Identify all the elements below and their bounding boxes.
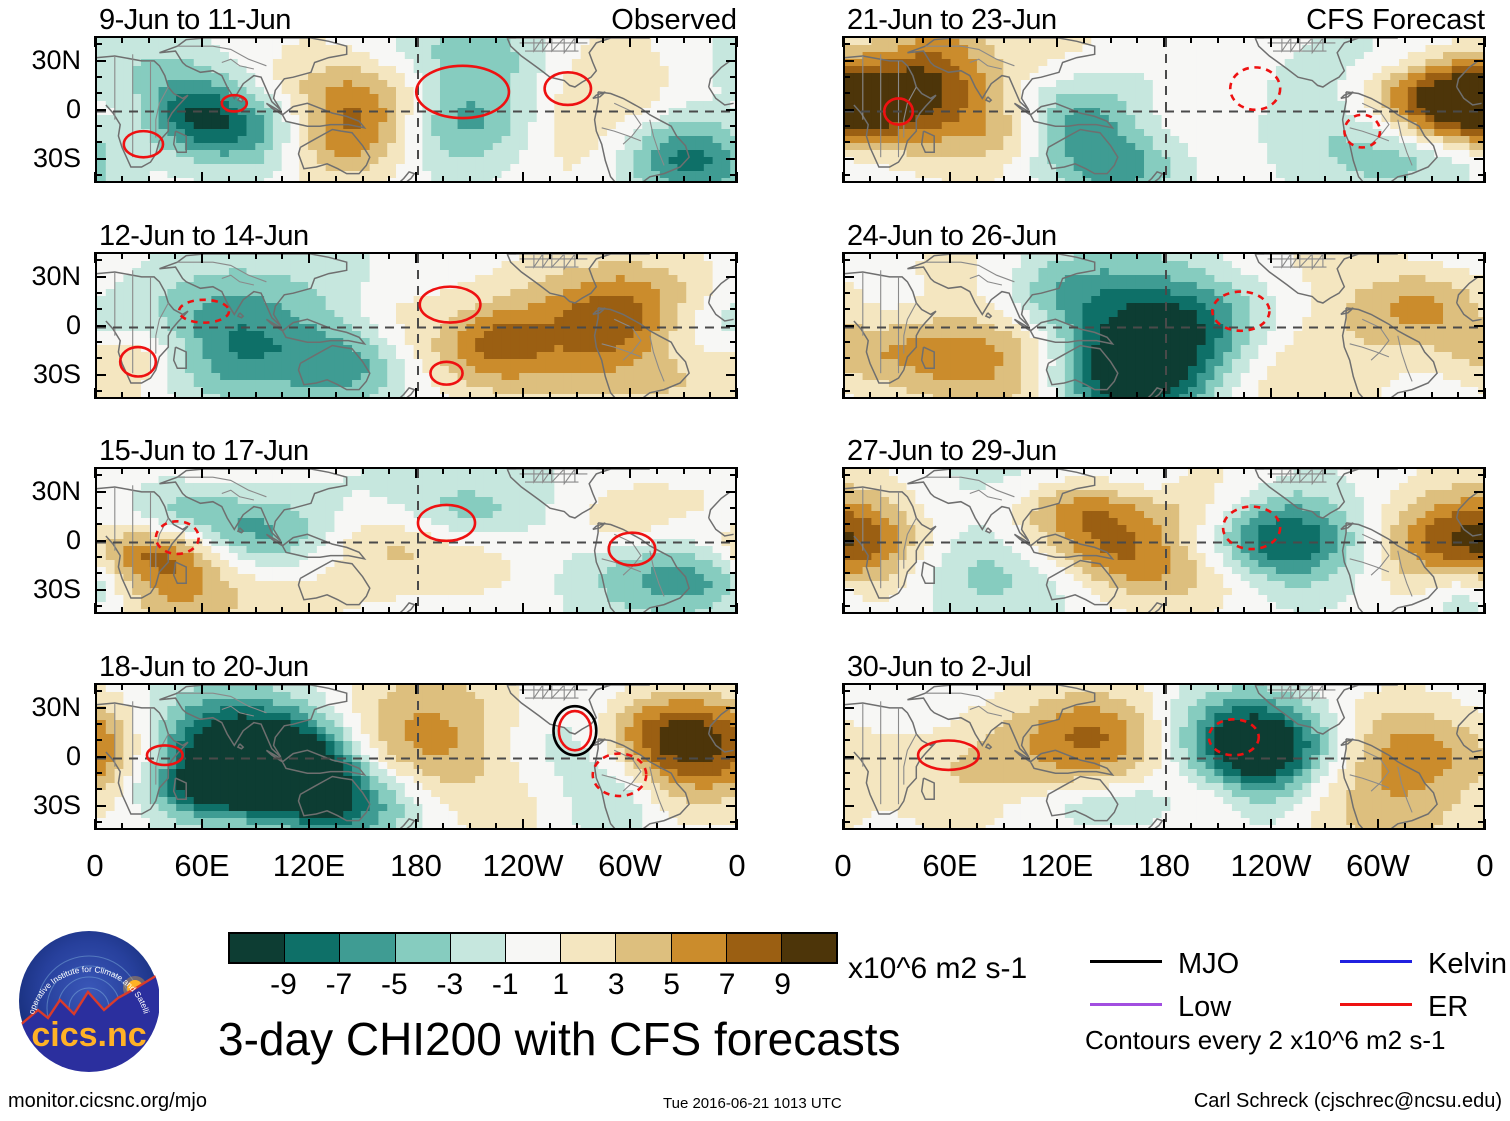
legend-line-mjo — [1090, 960, 1162, 963]
x-axis-tick — [335, 36, 337, 43]
legend-label: Low — [1178, 991, 1231, 1024]
y-axis-tick — [95, 60, 106, 62]
x-axis-tick-label: 120W — [478, 848, 568, 884]
x-axis-tick — [1003, 467, 1005, 474]
x-axis-tick — [1110, 823, 1112, 830]
x-axis-tick — [148, 392, 150, 399]
y-axis-tick — [843, 158, 854, 160]
y-axis-tick — [843, 474, 850, 476]
y-axis-tick — [730, 739, 737, 741]
x-axis-tick — [1163, 683, 1165, 694]
x-axis-tick — [1324, 823, 1326, 830]
x-axis-tick — [1457, 392, 1459, 399]
x-axis-tick — [94, 388, 96, 399]
x-axis-tick — [1457, 607, 1459, 614]
x-axis-tick — [1056, 603, 1058, 614]
x-axis-tick — [469, 607, 471, 614]
y-axis-tick — [1478, 572, 1485, 574]
y-axis-tick — [1474, 491, 1485, 493]
x-axis-tick — [442, 823, 444, 830]
x-axis-tick — [549, 607, 551, 614]
y-axis-tick — [95, 756, 106, 758]
x-axis-tick — [576, 683, 578, 690]
x-axis-tick — [1324, 607, 1326, 614]
x-axis-tick — [709, 683, 711, 690]
x-axis-tick — [1404, 392, 1406, 399]
colorbar-tick-label: 9 — [743, 968, 823, 1002]
x-axis-tick — [1029, 823, 1031, 830]
x-axis-tick — [869, 823, 871, 830]
x-axis-tick — [148, 607, 150, 614]
x-axis-tick — [1163, 467, 1165, 478]
y-axis-tick — [1474, 756, 1485, 758]
y-axis-tick — [843, 605, 850, 607]
y-axis-tick — [1478, 341, 1485, 343]
x-axis-tick — [869, 467, 871, 474]
x-axis-tick — [148, 823, 150, 830]
x-axis-tick — [896, 823, 898, 830]
x-axis-tick — [495, 683, 497, 690]
x-axis-tick — [1110, 252, 1112, 259]
x-axis-tick — [1136, 252, 1138, 259]
x-axis-tick — [842, 36, 844, 47]
x-axis-tick — [522, 252, 524, 263]
y-axis-tick — [843, 739, 850, 741]
x-axis-tick — [1350, 467, 1352, 474]
x-axis-tick — [1350, 36, 1352, 43]
y-axis-tick — [1474, 707, 1485, 709]
y-axis-tick — [843, 491, 854, 493]
x-axis-tick — [1003, 392, 1005, 399]
y-axis-tick — [843, 109, 854, 111]
x-axis-tick — [656, 683, 658, 690]
x-axis-tick — [94, 172, 96, 183]
y-axis-tick — [730, 523, 737, 525]
x-axis-tick — [1217, 392, 1219, 399]
y-axis-tick — [730, 341, 737, 343]
y-axis-tick — [843, 821, 850, 823]
x-axis-tick — [576, 176, 578, 183]
x-axis-tick — [549, 36, 551, 43]
y-axis-tick — [730, 772, 737, 774]
x-axis-tick — [1003, 823, 1005, 830]
x-axis-tick — [1190, 176, 1192, 183]
x-axis-tick — [736, 603, 738, 614]
x-axis-tick — [1297, 36, 1299, 43]
x-axis-tick-label: 60W — [1333, 848, 1423, 884]
x-axis-tick — [1404, 176, 1406, 183]
x-axis-tick — [1163, 819, 1165, 830]
colorbar-swatch — [450, 934, 505, 962]
x-axis-tick — [308, 388, 310, 399]
x-axis-tick — [1243, 36, 1245, 43]
y-axis-tick-label: 30S — [0, 143, 81, 174]
x-axis-tick — [1136, 176, 1138, 183]
x-axis-tick — [1484, 388, 1486, 399]
x-axis-tick — [362, 683, 364, 690]
x-axis-tick — [281, 392, 283, 399]
x-axis-tick — [442, 36, 444, 43]
x-axis-tick — [602, 392, 604, 399]
x-axis-tick — [549, 467, 551, 474]
map-plot-area — [843, 683, 1485, 830]
panel-title: 15-Jun to 17-Jun — [99, 435, 309, 468]
x-axis-tick — [896, 176, 898, 183]
x-axis-tick — [629, 683, 631, 694]
legend-label: ER — [1428, 991, 1468, 1024]
x-axis-tick — [1350, 823, 1352, 830]
x-axis-tick — [228, 36, 230, 43]
x-axis-tick — [148, 252, 150, 259]
x-axis-tick — [1270, 819, 1272, 830]
y-axis-tick — [95, 109, 106, 111]
y-axis-tick — [843, 507, 850, 509]
y-axis-tick — [95, 341, 102, 343]
chi200-field — [845, 38, 1485, 183]
x-axis-tick — [1190, 252, 1192, 259]
x-axis-tick — [869, 392, 871, 399]
y-axis-tick — [726, 805, 737, 807]
y-axis-tick — [95, 125, 102, 127]
x-axis-tick — [736, 252, 738, 263]
y-axis-tick — [1474, 540, 1485, 542]
x-axis-tick — [656, 607, 658, 614]
y-axis-tick — [95, 259, 102, 261]
y-axis-tick — [730, 572, 737, 574]
x-axis-tick — [1457, 823, 1459, 830]
x-axis-tick — [388, 252, 390, 259]
y-axis-tick — [95, 43, 102, 45]
x-axis-tick — [1431, 176, 1433, 183]
x-axis-tick — [201, 36, 203, 47]
x-axis-tick — [495, 467, 497, 474]
x-axis-tick — [736, 467, 738, 478]
x-axis-tick — [842, 467, 844, 478]
x-axis-tick — [736, 388, 738, 399]
panel-title: 30-Jun to 2-Jul — [847, 651, 1031, 684]
x-axis-tick — [148, 683, 150, 690]
x-axis-tick — [549, 683, 551, 690]
y-axis-tick — [730, 556, 737, 558]
column-header-observed: Observed — [577, 4, 737, 37]
x-axis-tick — [308, 172, 310, 183]
x-axis-tick — [656, 392, 658, 399]
footer-center: Tue 2016-06-21 1013 UTC — [663, 1095, 842, 1112]
x-axis-tick — [388, 683, 390, 690]
y-axis-tick — [1478, 523, 1485, 525]
x-axis-tick — [1163, 172, 1165, 183]
y-axis-tick — [843, 92, 850, 94]
y-axis-tick — [95, 556, 102, 558]
x-axis-tick — [1136, 36, 1138, 43]
x-axis-tick — [201, 603, 203, 614]
x-axis-tick — [1110, 392, 1112, 399]
legend-line-er — [1340, 1003, 1412, 1006]
x-axis-tick — [1431, 252, 1433, 259]
x-axis-tick — [174, 392, 176, 399]
x-axis-tick — [281, 823, 283, 830]
x-axis-tick — [576, 823, 578, 830]
y-axis-tick — [843, 540, 854, 542]
y-axis-tick — [95, 141, 102, 143]
x-axis-tick — [201, 172, 203, 183]
x-axis-tick — [949, 36, 951, 47]
x-axis-tick — [1217, 252, 1219, 259]
y-axis-tick — [730, 788, 737, 790]
x-axis-tick — [1484, 36, 1486, 47]
y-axis-tick — [95, 723, 102, 725]
x-axis-tick — [362, 392, 364, 399]
x-axis-tick — [255, 392, 257, 399]
x-axis-tick — [1270, 252, 1272, 263]
x-axis-tick — [1243, 683, 1245, 690]
x-axis-tick — [335, 683, 337, 690]
chi200-field — [845, 469, 1485, 614]
x-axis-tick — [1110, 36, 1112, 43]
x-axis-tick — [1243, 823, 1245, 830]
x-axis-tick — [629, 172, 631, 183]
y-axis-tick — [730, 308, 737, 310]
x-axis-tick — [922, 176, 924, 183]
x-axis-tick — [1404, 36, 1406, 43]
x-axis-tick — [308, 252, 310, 263]
x-axis-tick — [255, 607, 257, 614]
y-axis-tick — [730, 723, 737, 725]
y-axis-tick — [843, 60, 854, 62]
x-axis-tick — [709, 607, 711, 614]
x-axis-tick — [1457, 252, 1459, 259]
x-axis-tick — [842, 819, 844, 830]
x-axis-tick — [1110, 467, 1112, 474]
x-axis-tick — [576, 36, 578, 43]
x-axis-tick — [522, 819, 524, 830]
y-axis-tick — [726, 325, 737, 327]
x-axis-tick — [281, 683, 283, 690]
y-axis-tick — [843, 756, 854, 758]
x-axis-tick — [549, 252, 551, 259]
x-axis-tick — [201, 819, 203, 830]
x-axis-tick — [1190, 467, 1192, 474]
x-axis-tick — [255, 36, 257, 43]
y-axis-tick — [1478, 308, 1485, 310]
x-axis-tick — [1297, 252, 1299, 259]
x-axis-tick — [442, 683, 444, 690]
y-axis-tick — [95, 308, 102, 310]
x-axis-tick — [576, 252, 578, 259]
x-axis-tick — [896, 607, 898, 614]
y-axis-tick — [730, 141, 737, 143]
colorbar-swatch — [560, 934, 615, 962]
x-axis-tick — [1324, 683, 1326, 690]
x-axis-tick — [1297, 683, 1299, 690]
y-axis-tick — [843, 707, 854, 709]
x-axis-tick — [255, 252, 257, 259]
y-axis-tick — [726, 540, 737, 542]
y-axis-tick — [843, 556, 850, 558]
x-axis-tick — [922, 683, 924, 690]
x-axis-tick — [1136, 683, 1138, 690]
y-axis-tick — [843, 772, 850, 774]
x-axis-tick-label: 180 — [1119, 848, 1209, 884]
x-axis-tick — [1404, 607, 1406, 614]
x-axis-tick — [602, 467, 604, 474]
colorbar-units: x10^6 m2 s-1 — [848, 952, 1027, 986]
x-axis-tick — [388, 36, 390, 43]
x-axis-tick — [335, 823, 337, 830]
x-axis-tick — [922, 607, 924, 614]
y-axis-tick — [1474, 276, 1485, 278]
x-axis-tick — [1056, 683, 1058, 694]
y-axis-tick-label: 30S — [0, 359, 81, 390]
x-axis-tick — [1217, 467, 1219, 474]
x-axis-tick — [1377, 36, 1379, 47]
footer-right: Carl Schreck (cjschrec@ncsu.edu) — [1194, 1090, 1502, 1113]
x-axis-tick — [709, 252, 711, 259]
page-title: 3-day CHI200 with CFS forecasts — [218, 1012, 901, 1066]
x-axis-tick — [896, 683, 898, 690]
map-plot-area — [95, 36, 737, 183]
x-axis-tick — [1003, 607, 1005, 614]
x-axis-tick — [388, 823, 390, 830]
x-axis-tick — [1217, 683, 1219, 690]
x-axis-tick — [629, 603, 631, 614]
x-axis-tick — [683, 823, 685, 830]
x-axis-tick — [1377, 252, 1379, 263]
x-axis-tick — [1083, 392, 1085, 399]
x-axis-tick — [869, 36, 871, 43]
y-axis-tick — [95, 805, 106, 807]
panel-title: 18-Jun to 20-Jun — [99, 651, 309, 684]
y-axis-tick — [95, 92, 102, 94]
x-axis-tick — [869, 176, 871, 183]
x-axis-tick — [94, 36, 96, 47]
x-axis-tick-label: 120E — [264, 848, 354, 884]
x-axis-tick — [415, 467, 417, 478]
y-axis-tick — [1474, 158, 1485, 160]
x-axis-tick — [922, 823, 924, 830]
x-axis-tick — [1377, 172, 1379, 183]
x-axis-tick — [201, 252, 203, 263]
x-axis-tick — [94, 683, 96, 694]
y-axis-tick — [1478, 125, 1485, 127]
x-axis-tick — [174, 823, 176, 830]
x-axis-tick — [576, 467, 578, 474]
x-axis-tick — [442, 176, 444, 183]
colorbar-swatch — [230, 934, 284, 962]
x-axis-tick — [442, 467, 444, 474]
x-axis-tick — [949, 467, 951, 478]
x-axis-tick — [335, 252, 337, 259]
x-axis-tick — [335, 176, 337, 183]
x-axis-tick — [174, 683, 176, 690]
x-axis-tick — [629, 467, 631, 478]
x-axis-tick — [255, 467, 257, 474]
x-axis-tick — [842, 683, 844, 694]
x-axis-tick — [415, 172, 417, 183]
x-axis-tick — [388, 392, 390, 399]
x-axis-tick — [869, 252, 871, 259]
colorbar-swatch — [781, 934, 836, 962]
x-axis-tick — [1056, 172, 1058, 183]
x-axis-tick — [469, 823, 471, 830]
y-axis-tick — [726, 109, 737, 111]
x-axis-tick — [1404, 683, 1406, 690]
x-axis-tick — [469, 683, 471, 690]
x-axis-tick — [94, 467, 96, 478]
x-axis-tick — [121, 392, 123, 399]
y-axis-tick — [95, 507, 102, 509]
colorbar-swatch — [505, 934, 560, 962]
y-axis-tick — [1478, 739, 1485, 741]
x-axis-tick — [415, 819, 417, 830]
legend-label: MJO — [1178, 948, 1239, 981]
x-axis-tick — [522, 388, 524, 399]
x-axis-tick — [922, 36, 924, 43]
x-axis-tick — [629, 36, 631, 47]
y-axis-tick — [95, 158, 106, 160]
x-axis-tick — [1484, 603, 1486, 614]
y-axis-tick — [95, 572, 102, 574]
chi200-field — [845, 685, 1485, 830]
footer-left[interactable]: monitor.cicsnc.org/mjo — [8, 1090, 207, 1113]
y-axis-tick — [843, 125, 850, 127]
x-axis-tick — [1404, 252, 1406, 259]
x-axis-tick — [1190, 683, 1192, 690]
x-axis-tick — [121, 36, 123, 43]
x-axis-tick-label: 120E — [1012, 848, 1102, 884]
x-axis-tick — [228, 823, 230, 830]
contour-interval-note: Contours every 2 x10^6 m2 s-1 — [1085, 1025, 1445, 1056]
x-axis-tick — [602, 176, 604, 183]
x-axis-tick — [148, 176, 150, 183]
y-axis-tick — [95, 76, 102, 78]
x-axis-tick — [1484, 172, 1486, 183]
x-axis-tick — [335, 392, 337, 399]
chi200-field — [97, 254, 737, 399]
x-axis-tick — [174, 36, 176, 43]
colorbar-swatch — [339, 934, 394, 962]
x-axis-tick — [1136, 607, 1138, 614]
x-axis-tick — [656, 823, 658, 830]
x-axis-tick — [174, 607, 176, 614]
chi200-field — [845, 254, 1485, 399]
x-axis-tick — [1297, 467, 1299, 474]
x-axis-tick — [949, 172, 951, 183]
x-axis-tick — [1270, 467, 1272, 478]
y-axis-tick-label: 30N — [0, 45, 81, 76]
x-axis-tick — [1083, 176, 1085, 183]
x-axis-tick — [1056, 819, 1058, 830]
x-axis-tick — [683, 36, 685, 43]
panel-title: 12-Jun to 14-Jun — [99, 220, 309, 253]
x-axis-tick — [1297, 176, 1299, 183]
y-axis-tick — [843, 374, 854, 376]
x-axis-tick — [1243, 467, 1245, 474]
x-axis-tick — [94, 603, 96, 614]
x-axis-tick — [1083, 36, 1085, 43]
y-axis-tick — [95, 707, 106, 709]
y-axis-tick — [843, 390, 850, 392]
x-axis-tick — [1431, 467, 1433, 474]
y-axis-tick — [95, 772, 102, 774]
x-axis-tick — [1404, 467, 1406, 474]
x-axis-tick — [896, 252, 898, 259]
x-axis-tick — [1243, 392, 1245, 399]
x-axis-tick — [1270, 603, 1272, 614]
y-axis-tick — [1474, 374, 1485, 376]
x-axis-tick — [842, 172, 844, 183]
x-axis-tick — [949, 252, 951, 263]
